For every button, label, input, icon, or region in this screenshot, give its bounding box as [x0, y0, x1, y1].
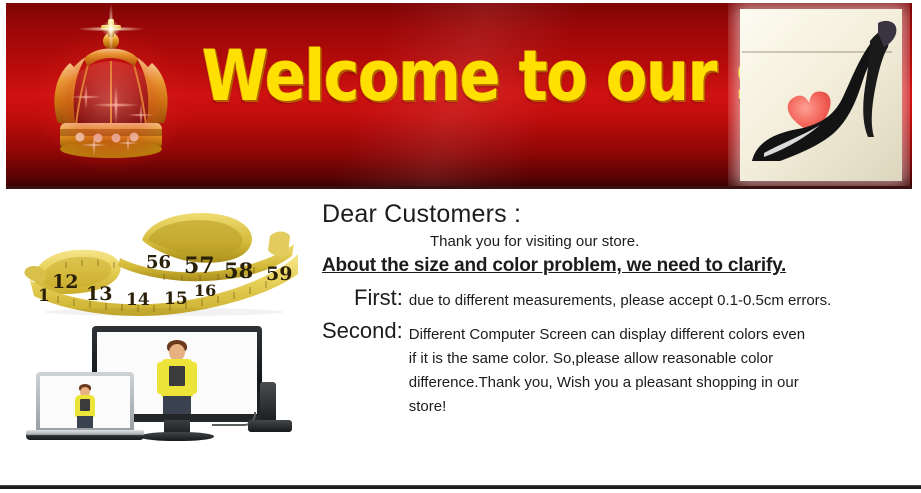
model-arm-left — [157, 362, 165, 394]
crown-icon — [16, 5, 206, 187]
thanks-line: Thank you for visiting our store. — [430, 232, 912, 251]
clause-first-body: due to different measurements, please ac… — [409, 285, 869, 311]
speaker-base — [248, 420, 292, 432]
model-photo — [155, 340, 199, 414]
model-photo-small — [72, 384, 98, 428]
info-section: 1 12 13 14 15 16 56 57 58 59 — [0, 192, 921, 493]
model-shirt-print — [80, 399, 90, 411]
tape-number: 58 — [224, 262, 253, 279]
clarify-heading: About the size and color problem, we nee… — [322, 254, 912, 278]
monitor-stand-base — [140, 432, 214, 441]
tape-number: 14 — [126, 292, 150, 309]
clause-first: First: due to different measurements, pl… — [322, 285, 912, 311]
laptop-screen — [40, 376, 130, 428]
tape-number: 16 — [194, 282, 216, 299]
clause-second-body: Different Computer Screen can display di… — [409, 318, 809, 419]
tape-number: 12 — [52, 274, 78, 291]
model-pants — [77, 416, 93, 428]
welcome-banner: Welcome to our shop ! — [6, 3, 912, 189]
model-pants — [163, 396, 191, 414]
tape-measure-icon: 1 12 13 14 15 16 56 57 58 59 — [14, 200, 304, 316]
high-heel-shoe-box-icon — [728, 3, 910, 186]
bottom-divider — [0, 485, 921, 489]
tape-number: 15 — [164, 291, 188, 308]
model-arm-right — [189, 362, 197, 394]
laptop-icon — [36, 372, 134, 430]
clause-second-label: Second: — [322, 318, 403, 343]
crown-glow — [16, 5, 206, 187]
tape-number: 13 — [86, 286, 112, 303]
tape-number: 1 — [38, 288, 50, 305]
laptop-base — [26, 430, 144, 440]
model-shirt-print — [169, 366, 185, 386]
clause-second: Second: Different Computer Screen can di… — [322, 318, 912, 419]
notice-text-block: Dear Customers : Thank you for visiting … — [322, 200, 912, 419]
monitor-laptop-speaker-icon — [16, 320, 308, 452]
tape-number: 56 — [146, 254, 171, 271]
high-heel-shoe-icon-svg — [728, 3, 910, 186]
tape-number: 59 — [266, 266, 292, 283]
greeting-line: Dear Customers : — [322, 200, 912, 228]
tape-number: 57 — [184, 258, 215, 275]
page-title: Welcome to our shop ! — [202, 39, 684, 113]
clause-first-label: First: — [354, 285, 403, 310]
speaker-icon — [260, 382, 276, 422]
